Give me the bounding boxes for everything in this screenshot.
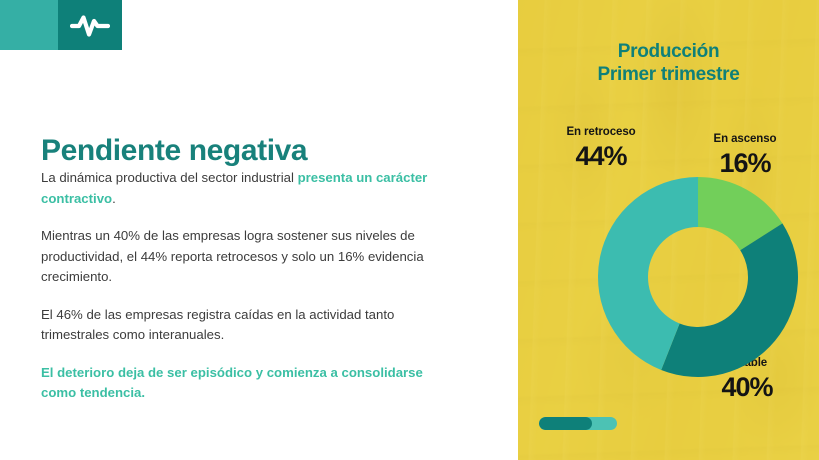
slice-label-en-retroceso-name: En retroceso bbox=[541, 127, 661, 139]
paragraph-1-tail: . bbox=[112, 191, 116, 206]
paragraph-1: La dinámica productiva del sector indust… bbox=[41, 168, 461, 209]
slice-label-estable-value: 40% bbox=[687, 374, 807, 401]
chart-title: Producción Primer trimestre bbox=[518, 40, 819, 86]
paragraph-3: El 46% de las empresas registra caídas e… bbox=[41, 305, 461, 346]
donut-chart bbox=[598, 177, 798, 377]
chart-title-line-2: Primer trimestre bbox=[598, 64, 740, 85]
pulse-waveform-icon bbox=[70, 12, 110, 38]
logo-square-light bbox=[0, 0, 58, 50]
slice-label-en-ascenso-name: En ascenso bbox=[685, 134, 805, 146]
paragraph-2: Mientras un 40% de las empresas logra so… bbox=[41, 226, 461, 288]
chart-title-line-1: Producción bbox=[618, 41, 720, 62]
paragraph-1-lead: La dinámica productiva del sector indust… bbox=[41, 170, 298, 185]
left-content-panel: Pendiente negativa La dinámica productiv… bbox=[0, 0, 518, 460]
logo-square-dark bbox=[58, 0, 122, 50]
slice-label-en-retroceso: En retroceso 44% bbox=[541, 127, 661, 170]
page-title: Pendiente negativa bbox=[41, 134, 307, 167]
slice-label-en-retroceso-value: 44% bbox=[541, 143, 661, 170]
paragraph-4-conclusion: El deterioro deja de ser episódico y com… bbox=[41, 363, 461, 404]
progress-indicator-fill bbox=[539, 417, 592, 430]
brand-logo[interactable] bbox=[0, 0, 122, 50]
body-copy: La dinámica productiva del sector indust… bbox=[41, 168, 461, 404]
slice-label-en-ascenso-value: 16% bbox=[685, 150, 805, 177]
chart-panel: Producción Primer trimestre En retroceso… bbox=[518, 0, 819, 460]
donut-slice-estable[interactable] bbox=[661, 223, 798, 377]
progress-indicator[interactable] bbox=[539, 417, 617, 430]
slice-label-en-ascenso: En ascenso 16% bbox=[685, 134, 805, 177]
